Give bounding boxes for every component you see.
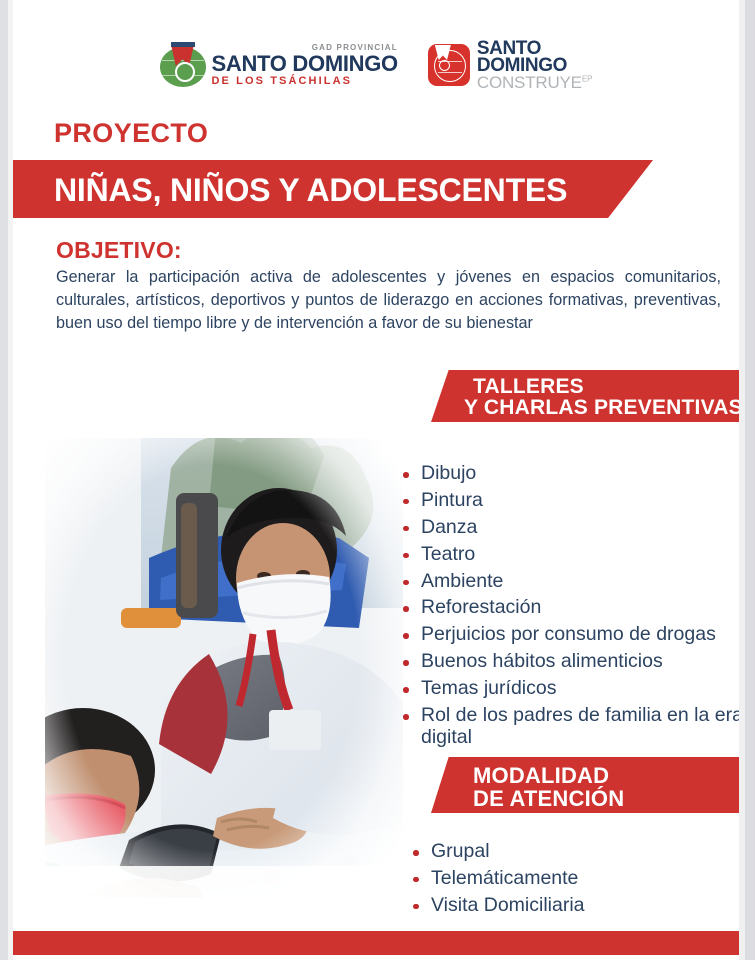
list-item: Teatro <box>401 543 739 566</box>
medal-ring-shape <box>175 62 195 82</box>
list-item: Pintura <box>401 489 739 512</box>
construye-word: CONSTRUYE <box>477 73 582 92</box>
construye-logo-text: SANTO DOMINGO CONSTRUYEEP <box>477 40 593 91</box>
logo-santo-domingo-construye: SANTO DOMINGO CONSTRUYEEP <box>428 40 593 91</box>
banner-modalidad-line2: DE ATENCIÓN <box>473 786 624 812</box>
project-photo <box>21 398 403 898</box>
talleres-list: Dibujo Pintura Danza Teatro Ambiente Ref… <box>401 462 739 752</box>
gad-logo-text: GAD PROVINCIAL SANTO DOMINGO DE LOS TSÁC… <box>212 44 398 87</box>
logo-gad-provincial: GAD PROVINCIAL SANTO DOMINGO DE LOS TSÁC… <box>160 42 398 88</box>
construye-suffix: EP <box>582 74 593 83</box>
gad-provincial-emblem-icon <box>160 42 206 88</box>
footer-bar <box>13 931 739 955</box>
banner-talleres: TALLERES Y CHARLAS PREVENTIVAS <box>431 370 739 422</box>
flyer-sheet: GAD PROVINCIAL SANTO DOMINGO DE LOS TSÁC… <box>13 0 739 960</box>
list-item: Telemáticamente <box>411 867 739 890</box>
list-item: Visita Domiciliaria <box>411 894 739 917</box>
banner-talleres-line2: Y CHARLAS PREVENTIVAS <box>464 396 739 420</box>
construye-line3: CONSTRUYEEP <box>477 75 593 91</box>
gad-name: SANTO DOMINGO <box>212 53 398 75</box>
title-banner: NIÑAS, NIÑOS Y ADOLESCENTES <box>13 160 653 218</box>
list-item: Grupal <box>411 840 739 863</box>
list-item: Temas jurídicos <box>401 677 739 700</box>
list-item: Perjuicios por consumo de drogas <box>401 623 739 646</box>
list-item: Ambiente <box>401 570 739 593</box>
list-item: Reforestación <box>401 596 739 619</box>
blue-stripe-shape <box>171 42 195 47</box>
kicker-proyecto: PROYECTO <box>54 118 208 149</box>
emblem-ring-shape <box>439 60 450 71</box>
list-item: Rol de los padres de familia en la era d… <box>401 704 739 749</box>
objective-heading: OBJETIVO: <box>56 237 182 264</box>
list-item: Buenos hábitos alimenticios <box>401 650 739 673</box>
logo-row: GAD PROVINCIAL SANTO DOMINGO DE LOS TSÁC… <box>13 34 739 96</box>
list-item: Dibujo <box>401 462 739 485</box>
photo-illustration <box>21 398 403 898</box>
modalidad-list: Grupal Telemáticamente Visita Domiciliar… <box>411 840 739 921</box>
construye-emblem-icon <box>428 44 470 86</box>
list-item: Danza <box>401 516 739 539</box>
banner-modalidad: MODALIDAD DE ATENCIÓN <box>431 757 739 813</box>
page-frame: GAD PROVINCIAL SANTO DOMINGO DE LOS TSÁC… <box>0 0 755 960</box>
page-title: NIÑAS, NIÑOS Y ADOLESCENTES <box>54 172 567 209</box>
gad-subtitle: DE LOS TSÁCHILAS <box>212 76 398 87</box>
objective-body: Generar la participación activa de adole… <box>56 266 721 335</box>
